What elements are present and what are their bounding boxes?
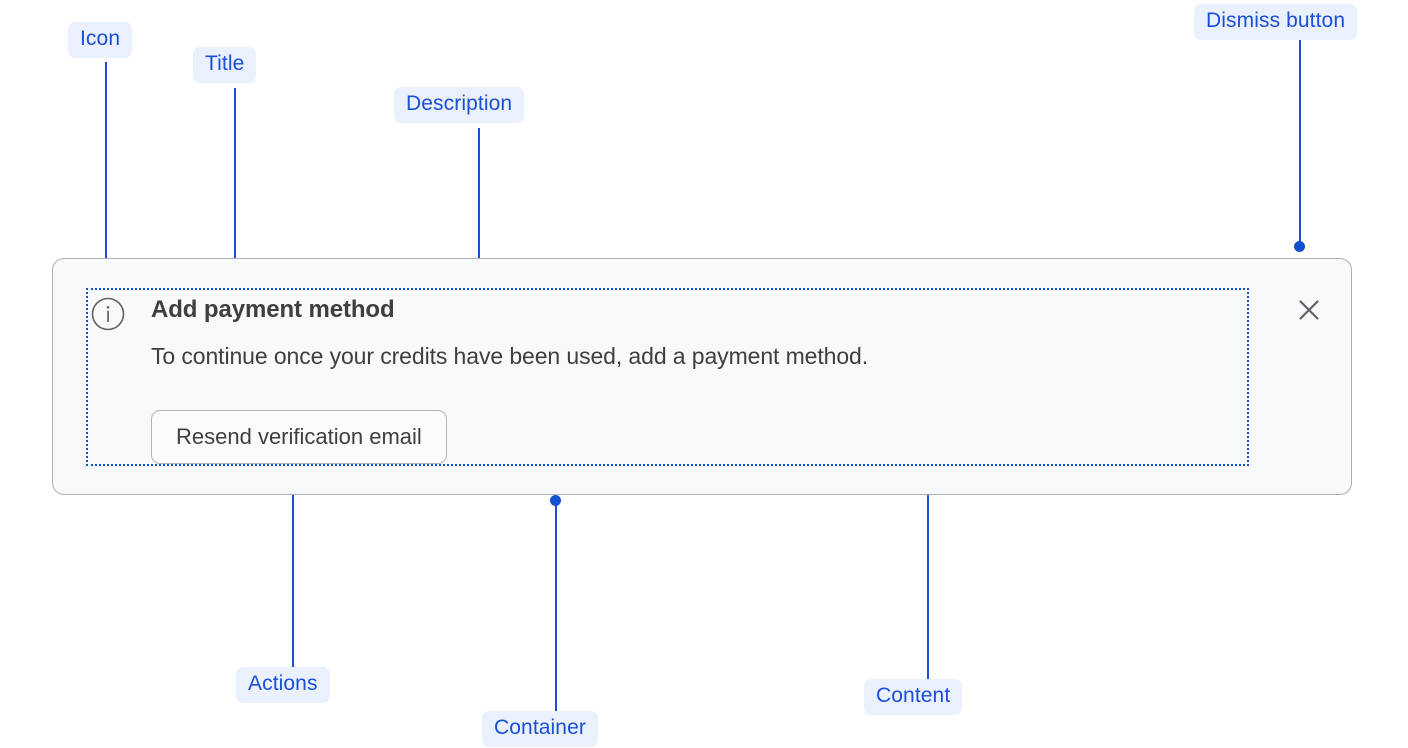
annotation-label-description: Description (394, 87, 524, 123)
annotation-label-container: Container (482, 711, 598, 747)
leader-dot-dismiss-button (1294, 241, 1305, 252)
dismiss-button[interactable] (1291, 292, 1327, 328)
leader-line-container (555, 500, 557, 711)
alert-content: Add payment method To continue once your… (86, 288, 1249, 466)
annotation-label-actions: Actions (236, 667, 330, 703)
alert-actions: Resend verification email (151, 410, 447, 464)
close-icon (1295, 296, 1323, 324)
alert-container: Add payment method To continue once your… (52, 258, 1352, 495)
leader-line-icon (105, 62, 107, 267)
annotation-label-title: Title (193, 47, 256, 83)
info-circle-icon (91, 297, 125, 331)
alert-title: Add payment method (151, 296, 395, 324)
annotation-label-icon: Icon (68, 22, 132, 58)
alert-description: To continue once your credits have been … (151, 343, 868, 370)
leader-line-dismiss-button (1299, 40, 1301, 247)
annotation-label-dismiss-button: Dismiss button (1194, 4, 1357, 40)
annotation-label-content: Content (864, 679, 962, 715)
resend-verification-email-button[interactable]: Resend verification email (151, 410, 447, 464)
leader-line-content (927, 465, 929, 679)
leader-dot-container (550, 495, 561, 506)
